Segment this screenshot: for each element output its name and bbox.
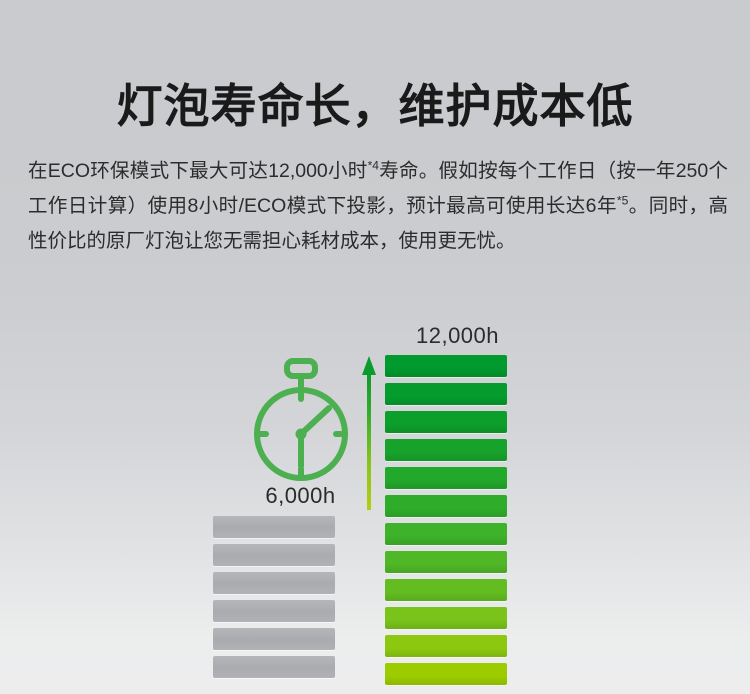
bar-segment [385,551,507,573]
bar-segment [213,656,335,678]
bar-segment [385,355,507,377]
bar-segment [385,607,507,629]
bar-segment [213,628,335,650]
bar-segment [385,663,507,685]
page-title: 灯泡寿命长，维护成本低 [0,79,750,134]
page-root: 灯泡寿命长，维护成本低 在ECO环保模式下最大可达12,000小时*4寿命。假如… [0,0,750,694]
bar-segment [385,495,507,517]
eco-lamp-bar-stack [385,355,507,684]
standard-lamp-bar-stack [213,516,335,684]
bar-segment [213,572,335,594]
standard-value-label: 6,000h [248,483,353,509]
footnote-marker-4: *4 [368,158,379,172]
bar-segment [385,383,507,405]
footnote-marker-5: *5 [617,193,628,207]
stopwatch-icon [245,358,357,483]
bar-segment [385,523,507,545]
bar-segment [385,635,507,657]
bar-segment [213,600,335,622]
growth-arrow-icon [362,356,376,510]
bar-segment [385,439,507,461]
lamp-life-chart: 12,000h 6,000h [0,300,750,694]
bar-segment [385,411,507,433]
bar-segment [385,467,507,489]
bar-segment [385,579,507,601]
body-paragraph: 在ECO环保模式下最大可达12,000小时*4寿命。假如按每个工作日（按一年25… [28,154,728,259]
eco-value-label: 12,000h [390,323,525,349]
bar-segment [213,544,335,566]
body-text-part-1: 在ECO环保模式下最大可达12,000小时 [28,160,368,182]
bar-segment [213,516,335,538]
